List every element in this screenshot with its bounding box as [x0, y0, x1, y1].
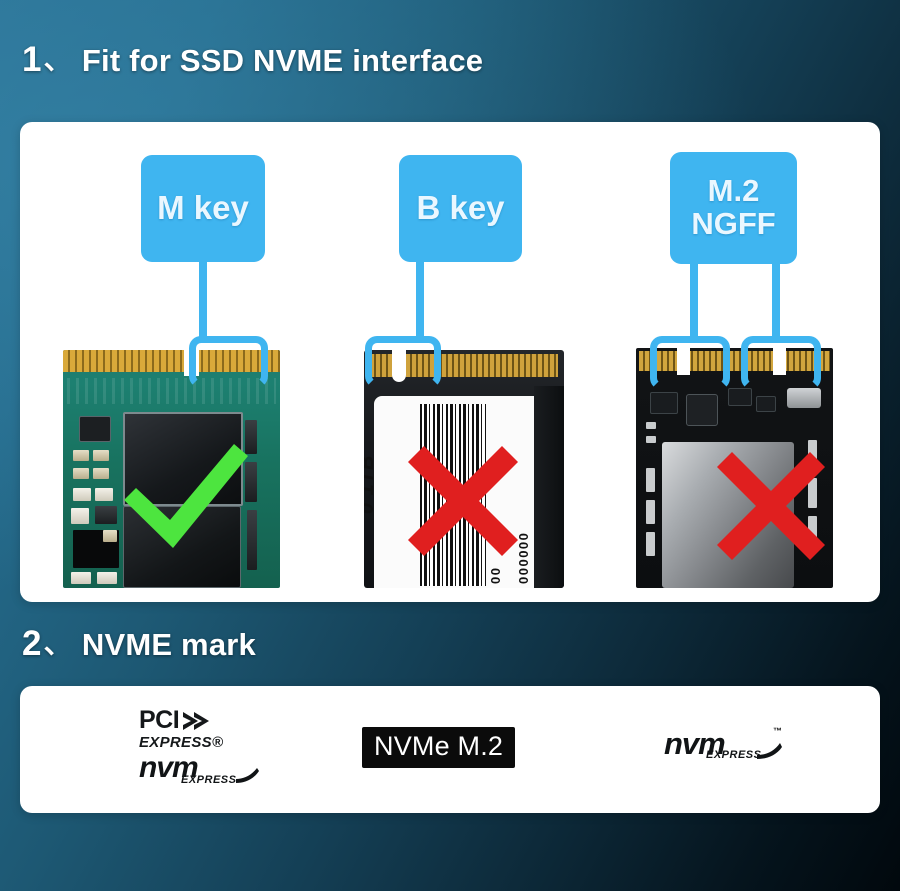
section-1-separator: 、 [44, 38, 72, 78]
callout-label-m2-line1: M.2 [691, 175, 775, 208]
m-key-smd-component [97, 572, 117, 584]
section-2-number: 2 [22, 624, 42, 664]
callout-label-m-key-text: M key [157, 191, 249, 226]
b-key-capacity-text: 0 1TB [364, 455, 379, 514]
pci-express-subtext: EXPRESS® [139, 734, 223, 751]
ngff-ic-chip [728, 388, 752, 406]
ngff-inductor-coil [686, 394, 718, 426]
callout-label-m2-ngff: M.2 NGFF [670, 152, 797, 264]
ngff-connector-module [787, 388, 821, 408]
callout-stem-b-key [416, 258, 424, 342]
ngff-solder-pad [646, 500, 655, 524]
nvm-swoosh-icon-right [756, 740, 784, 762]
pci-text: PCI [139, 708, 179, 733]
m-key-smd-component [95, 488, 113, 501]
nvm-express-subtext: EXPRESS [181, 775, 236, 786]
m-key-smd-component [73, 468, 89, 479]
nvme-m2-badge: NVMe M.2 [362, 727, 515, 768]
callout-label-b-key-text: B key [416, 191, 504, 226]
section-heading-1: 1 、 Fit for SSD NVME interface [22, 40, 483, 80]
pci-chevron-icon [181, 710, 211, 732]
section-2-separator: 、 [44, 622, 72, 662]
m-key-smd-component [103, 530, 117, 542]
ngff-solder-pad [646, 422, 656, 429]
ngff-solder-pad [646, 468, 655, 492]
callout-stem-m-key [199, 258, 207, 342]
section-2-title: NVME mark [82, 627, 256, 663]
ngff-ic-chip [756, 396, 776, 412]
pci-express-wordmark: PCI [139, 708, 211, 733]
incompatible-cross-icon-b-key [404, 442, 522, 560]
callout-stem-ngff-right [772, 260, 780, 342]
nvm-express-wordmark-right: nvm EXPRESS [664, 728, 784, 759]
m-key-smd-component [71, 508, 89, 524]
nvm-express-subtext-right: EXPRESS [706, 750, 761, 761]
callout-label-m2-line2: NGFF [691, 208, 775, 241]
nvm-express-logo-right: nvm EXPRESS ™ [664, 726, 784, 776]
m-key-smd-component [73, 450, 89, 461]
callout-bracket-ngff-notch-m [741, 336, 821, 390]
m-key-controller-chip [79, 416, 111, 442]
nvm-trademark-symbol: ™ [773, 726, 782, 736]
nvm-express-wordmark-stacked: nvm EXPRESS [139, 753, 198, 783]
nvm-swoosh-icon [235, 765, 261, 785]
m-key-smd-component [73, 488, 91, 501]
callout-bracket-b-key-notch [365, 336, 441, 388]
m-key-smd-component [93, 450, 109, 461]
compatible-check-icon [118, 438, 252, 554]
product-infographic: 1 、 Fit for SSD NVME interface M key B k… [0, 0, 900, 891]
pci-express-nvm-logo: PCI EXPRESS® nvm EXPRESS [139, 708, 265, 790]
callout-label-b-key: B key [399, 155, 522, 262]
nvme-m2-badge-text: NVMe M.2 [374, 731, 503, 761]
m-key-smd-component [71, 572, 91, 584]
callout-label-m-key: M key [141, 155, 265, 262]
m-key-smd-component [95, 506, 117, 524]
m-key-smd-component [93, 468, 109, 479]
callout-bracket-ngff-notch-b [650, 336, 730, 390]
callout-stem-ngff-left [690, 260, 698, 342]
ngff-solder-pad [646, 436, 656, 443]
incompatible-cross-icon-ngff [713, 448, 829, 564]
callout-bracket-m-key-notch [189, 336, 268, 388]
ngff-ic-chip [650, 392, 678, 414]
ngff-solder-pad [646, 532, 655, 556]
section-heading-2: 2 、 NVME mark [22, 624, 256, 664]
section-1-title: Fit for SSD NVME interface [82, 43, 483, 79]
b-key-label-digits: 00 [488, 567, 503, 584]
b-key-pcb-edge [534, 386, 564, 588]
section-1-number: 1 [22, 40, 42, 80]
